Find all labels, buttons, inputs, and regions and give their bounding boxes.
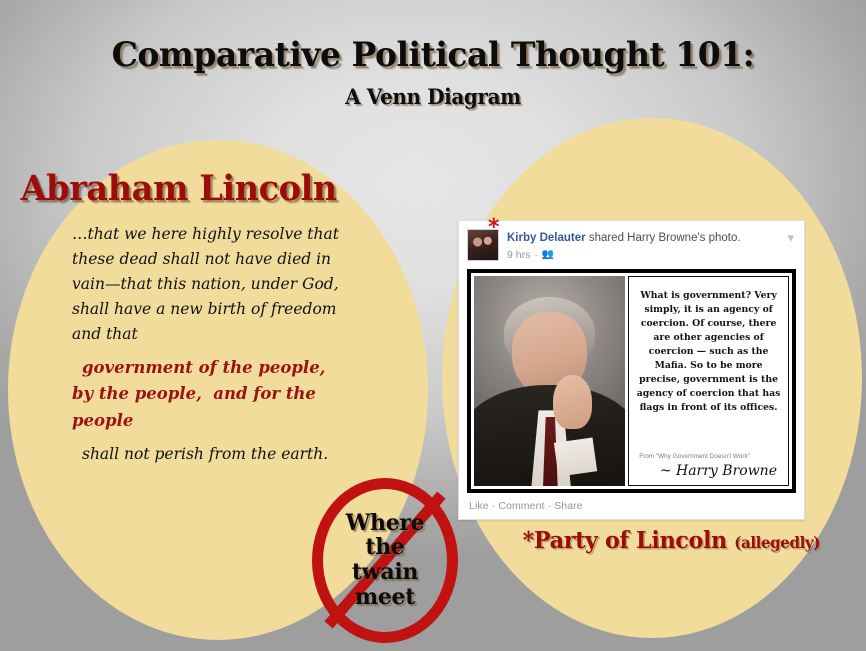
facebook-post-story: Kirby Delauter shared Harry Browne's pho… [507, 231, 787, 247]
page-title: Comparative Political Thought 101: [13, 38, 853, 74]
facebook-post-header: * Kirby Delauter shared Harry Browne's p… [459, 221, 804, 267]
quote-line: shall have a new birth of freedom [72, 297, 362, 322]
facebook-photo-frame[interactable]: What is government? Very simply, it is a… [467, 269, 796, 493]
lincoln-quote: …that we here highly resolve that these … [72, 222, 362, 467]
facebook-post-meta: 9 hrs · 👥 [507, 249, 787, 261]
quote-highlight-line: government of the people, [72, 355, 362, 382]
like-button[interactable]: Like [469, 500, 489, 512]
harry-browne-attribution: ~ Harry Browne [636, 463, 781, 479]
asterisk-marker-icon: * [488, 217, 500, 239]
facebook-author-link[interactable]: Kirby Delauter [507, 232, 586, 244]
harry-browne-portrait-photo [474, 276, 625, 486]
comment-button[interactable]: Comment [498, 500, 544, 512]
facebook-action-bar: Like · Comment · Share [459, 493, 804, 519]
party-of-lincoln-qualifier: (allegedly) [734, 533, 820, 552]
quote-line: vain—that this nation, under God, [72, 272, 362, 297]
meta-separator: · [534, 249, 538, 261]
portrait-hand [553, 375, 592, 430]
facebook-action-text: shared Harry Browne's photo. [589, 232, 741, 244]
quote-line: …that we here highly resolve that [72, 222, 362, 247]
facebook-post-byline: Kirby Delauter shared Harry Browne's pho… [507, 229, 787, 261]
chevron-down-icon[interactable]: ▾ [787, 229, 796, 244]
friends-icon[interactable]: 👥 [542, 249, 554, 260]
share-button[interactable]: Share [554, 500, 583, 512]
quote-line: and that [72, 322, 362, 347]
quote-closing-line: shall not perish from the earth. [72, 442, 362, 467]
facebook-timestamp[interactable]: 9 hrs [507, 249, 530, 261]
lincoln-heading: Abraham Lincoln [21, 168, 337, 209]
venn-diagram-slide: Comparative Political Thought 101: A Ven… [0, 0, 866, 651]
portrait-cuff [553, 437, 597, 476]
harry-browne-quote-source: From "Why Government Doesn't Work" [636, 453, 781, 460]
facebook-post-card[interactable]: * Kirby Delauter shared Harry Browne's p… [458, 220, 805, 520]
party-of-lincoln-text: *Party of Lincoln [523, 527, 727, 554]
quote-line: these dead shall not have died in [72, 247, 362, 272]
quote-highlight-line: by the people, and for the [72, 381, 362, 408]
title-block: Comparative Political Thought 101: A Ven… [0, 38, 866, 109]
harry-browne-quote-box: What is government? Very simply, it is a… [628, 276, 789, 486]
page-subtitle: A Venn Diagram [22, 84, 845, 109]
harry-browne-quote: What is government? Very simply, it is a… [636, 289, 781, 453]
quote-highlight-line: people [72, 408, 362, 435]
facebook-photo-inner: What is government? Very simply, it is a… [471, 273, 792, 489]
no-entry-prohibition-icon: Where the twain meet [312, 478, 458, 643]
party-of-lincoln-footnote: *Party of Lincoln (allegedly) [523, 527, 820, 554]
